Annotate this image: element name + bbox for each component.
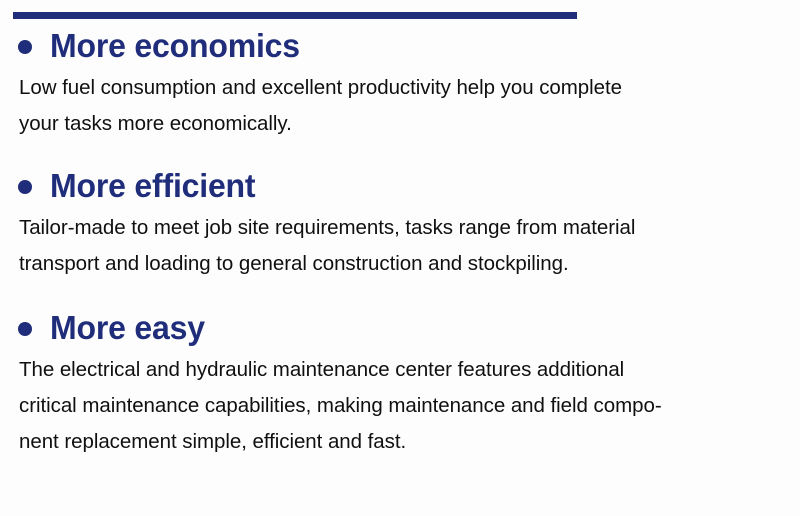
feature-highlights-page: More economics Low fuel consumption and …: [0, 0, 800, 516]
top-divider-rule: [13, 12, 577, 19]
feature-heading-economics: More economics: [0, 26, 800, 66]
bullet-point-icon: [18, 40, 32, 54]
content-column: More economics Low fuel consumption and …: [0, 26, 800, 466]
feature-body-easy: The electrical and hydraulic maintenance…: [0, 352, 800, 460]
feature-section-economics: More economics Low fuel consumption and …: [0, 26, 800, 142]
feature-heading-label: More efficient: [50, 166, 255, 206]
feature-heading-easy: More easy: [0, 308, 800, 348]
feature-body-efficient: Tailor-made to meet job site requirement…: [0, 210, 800, 282]
feature-heading-efficient: More efficient: [0, 166, 800, 206]
bullet-point-icon: [18, 322, 32, 336]
feature-body-economics: Low fuel consumption and excellent produ…: [0, 70, 800, 142]
feature-section-easy: More easy The electrical and hydraulic m…: [0, 308, 800, 460]
feature-heading-label: More economics: [50, 26, 300, 66]
feature-section-efficient: More efficient Tailor-made to meet job s…: [0, 166, 800, 282]
bullet-point-icon: [18, 180, 32, 194]
feature-heading-label: More easy: [50, 308, 205, 348]
